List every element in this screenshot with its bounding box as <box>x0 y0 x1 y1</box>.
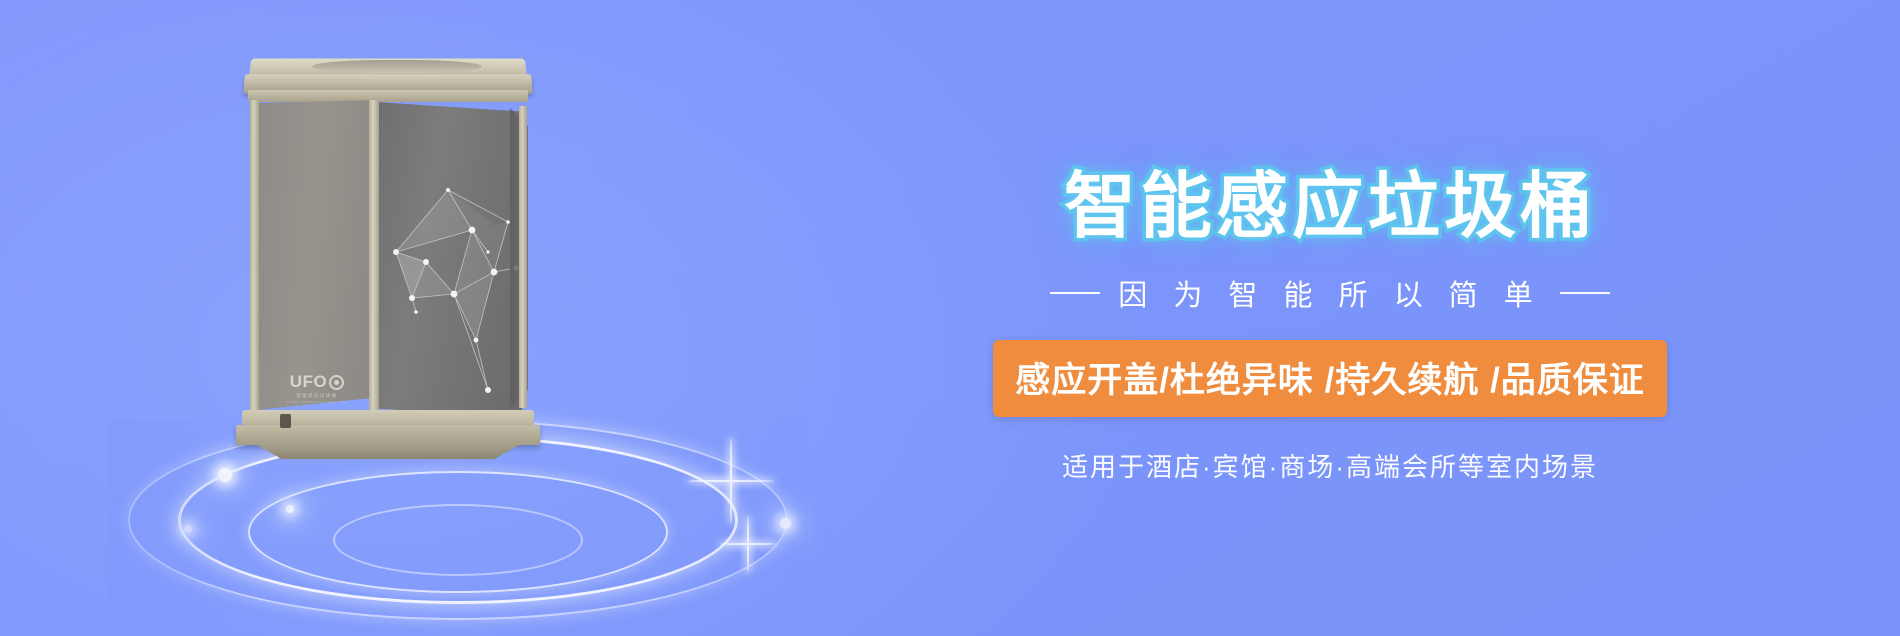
subtitle-dash-right <box>1560 292 1610 294</box>
glow-dot-icon <box>286 505 294 513</box>
glow-dot-icon <box>184 525 192 533</box>
polygon-network-pattern-icon <box>376 102 522 418</box>
banner-subtitle: 因 为 智 能 所 以 简 单 <box>1050 272 1609 314</box>
subtitle-text: 因 为 智 能 所 以 简 单 <box>1118 272 1541 314</box>
brand-logo-ring-icon <box>329 375 344 390</box>
bin-corner-post <box>250 100 259 412</box>
bin-lid-inner <box>312 60 482 73</box>
banner-copy: 智能感应垃圾桶 因 为 智 能 所 以 简 单 感应开盖/杜绝异味 /持久续航 … <box>880 0 1780 636</box>
feature-badge: 感应开盖/杜绝异味 /持久续航 /品质保证 <box>993 340 1667 417</box>
product-brand-logo: UFO 智能感应垃圾桶 SMART INDUCTION TRASH CAN <box>278 372 356 404</box>
bin-plinth-mid <box>236 425 540 445</box>
bin-corner-post <box>519 106 527 408</box>
promo-banner: UFO 智能感应垃圾桶 SMART INDUCTION TRASH CAN 智能… <box>0 0 1900 636</box>
product-trash-bin: UFO 智能感应垃圾桶 SMART INDUCTION TRASH CAN <box>238 58 538 458</box>
glow-dot-icon <box>218 468 232 482</box>
bin-base <box>234 410 542 466</box>
usage-scenario-text: 适用于酒店·宾馆·商场·高端会所等室内场景 <box>1062 447 1598 484</box>
subtitle-dash-left <box>1050 292 1100 294</box>
bin-face-left <box>256 100 376 410</box>
bin-pedal-icon <box>280 414 291 428</box>
ripple-ring-core <box>333 504 583 576</box>
bin-corner-post <box>369 100 379 418</box>
brand-logo-mark: UFO <box>278 372 356 392</box>
brand-logo-cn: 智能感应垃圾桶 <box>278 393 356 399</box>
brand-logo-text: UFO <box>290 372 327 392</box>
page-title: 智能感应垃圾桶 <box>1064 170 1596 246</box>
bin-face-front <box>376 102 522 418</box>
brand-logo-sub: SMART INDUCTION TRASH CAN <box>278 400 356 404</box>
bin-body: UFO 智能感应垃圾桶 SMART INDUCTION TRASH CAN <box>238 100 538 418</box>
bin-plinth-bottom <box>248 443 528 459</box>
product-scene: UFO 智能感应垃圾桶 SMART INDUCTION TRASH CAN <box>60 0 840 636</box>
glow-dot-icon <box>780 518 791 529</box>
